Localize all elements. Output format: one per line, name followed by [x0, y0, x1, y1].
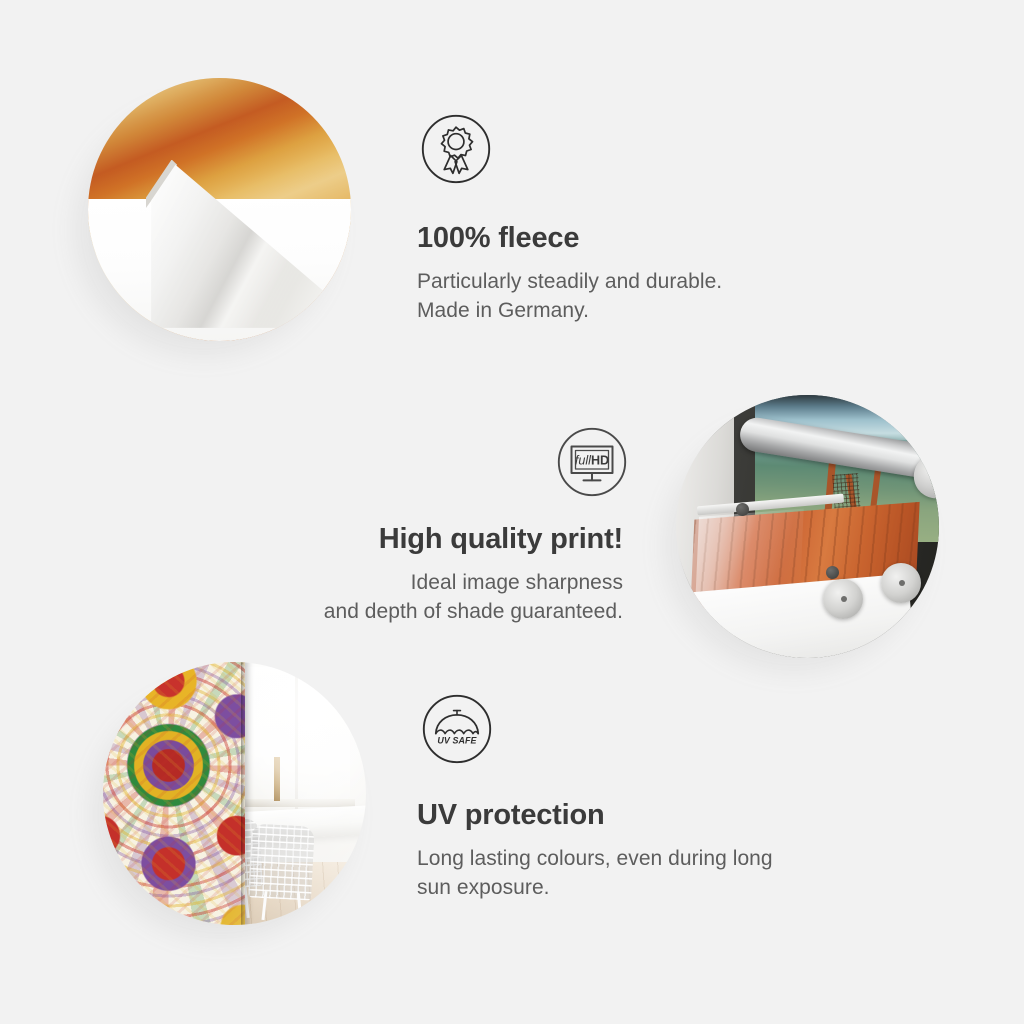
- feature-text-uv: UV protection Long lasting colours, even…: [417, 800, 773, 903]
- feature-heading-uv: UV protection: [417, 800, 773, 832]
- photo-printing-press: [676, 395, 939, 658]
- svg-text:fullHD: fullHD: [575, 453, 609, 467]
- photo-highlight-sheen: [103, 662, 366, 925]
- feature-heading-fleece: 100% fleece: [417, 223, 722, 255]
- photo-mandala-interior: [103, 662, 366, 925]
- photo-fleece-roll: [88, 78, 351, 341]
- press-knob-b: [826, 566, 839, 579]
- feature-infographic: 100% fleece Particularly steadily and du…: [0, 0, 1024, 1024]
- feature-heading-print: High quality print!: [324, 524, 623, 556]
- award-rosette-icon: [420, 113, 492, 185]
- full-hd-monitor-icon: fullHD: [556, 426, 628, 498]
- feature-text-fleece: 100% fleece Particularly steadily and du…: [417, 223, 722, 326]
- feature-body-print: Ideal image sharpness and depth of shade…: [324, 569, 623, 627]
- svg-text:UV SAFE: UV SAFE: [437, 735, 477, 745]
- uv-safe-umbrella-icon: UV SAFE: [421, 693, 493, 765]
- feature-body-fleece: Particularly steadily and durable. Made …: [417, 268, 722, 326]
- feature-text-print: High quality print! Ideal image sharpnes…: [324, 524, 623, 627]
- feature-body-uv: Long lasting colours, even during long s…: [417, 845, 773, 903]
